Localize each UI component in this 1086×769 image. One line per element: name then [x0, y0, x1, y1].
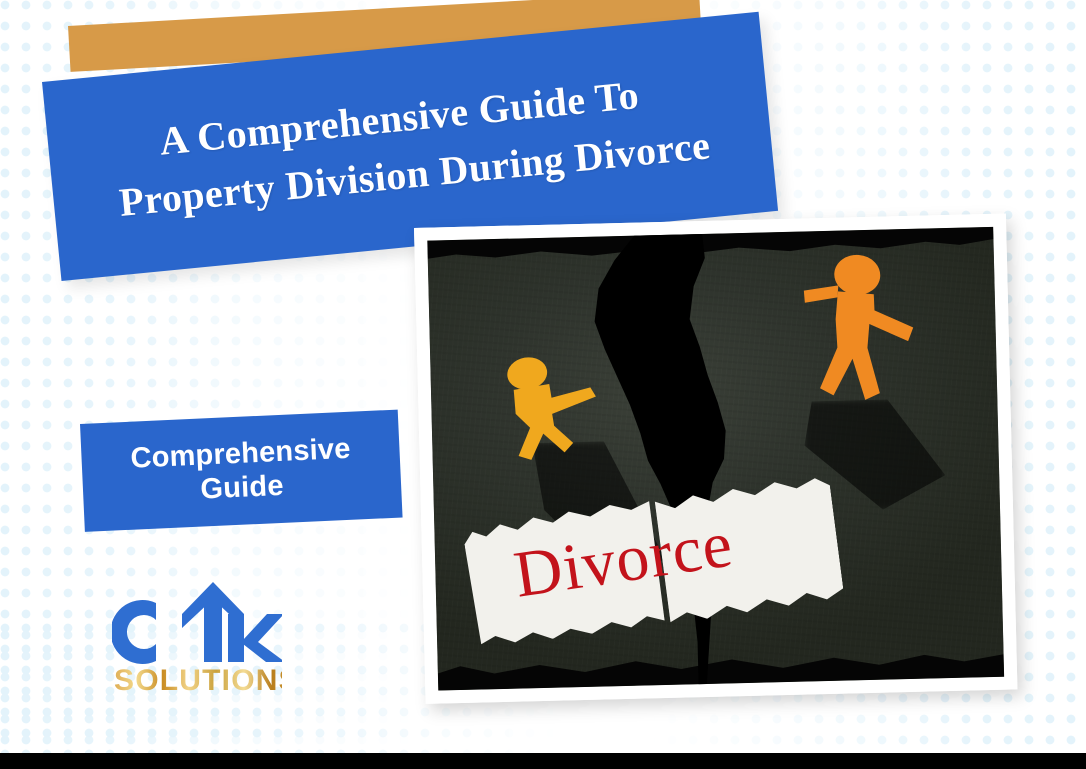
- paper-figure-left-icon: [492, 346, 615, 474]
- bottom-bar: [0, 753, 1086, 769]
- badge-text: Comprehensive Guide: [130, 432, 353, 510]
- logo-svg: SOLUTIONS: [112, 566, 282, 706]
- logo-letter-c-icon: [112, 600, 156, 664]
- paper-figure-left: [492, 346, 615, 474]
- paper-figure-right-icon: [796, 250, 940, 433]
- comprehensive-guide-badge: Comprehensive Guide: [80, 410, 403, 532]
- ctk-solutions-logo: SOLUTIONS: [112, 566, 282, 706]
- logo-wordmark: SOLUTIONS: [114, 664, 282, 697]
- logo-letter-k-icon: [228, 614, 282, 662]
- divorce-photo: Divorce: [427, 227, 1004, 691]
- paper-figure-right: [796, 250, 940, 433]
- divorce-photo-frame: Divorce: [414, 214, 1017, 704]
- poster-canvas: A Comprehensive Guide To Property Divisi…: [0, 0, 1086, 769]
